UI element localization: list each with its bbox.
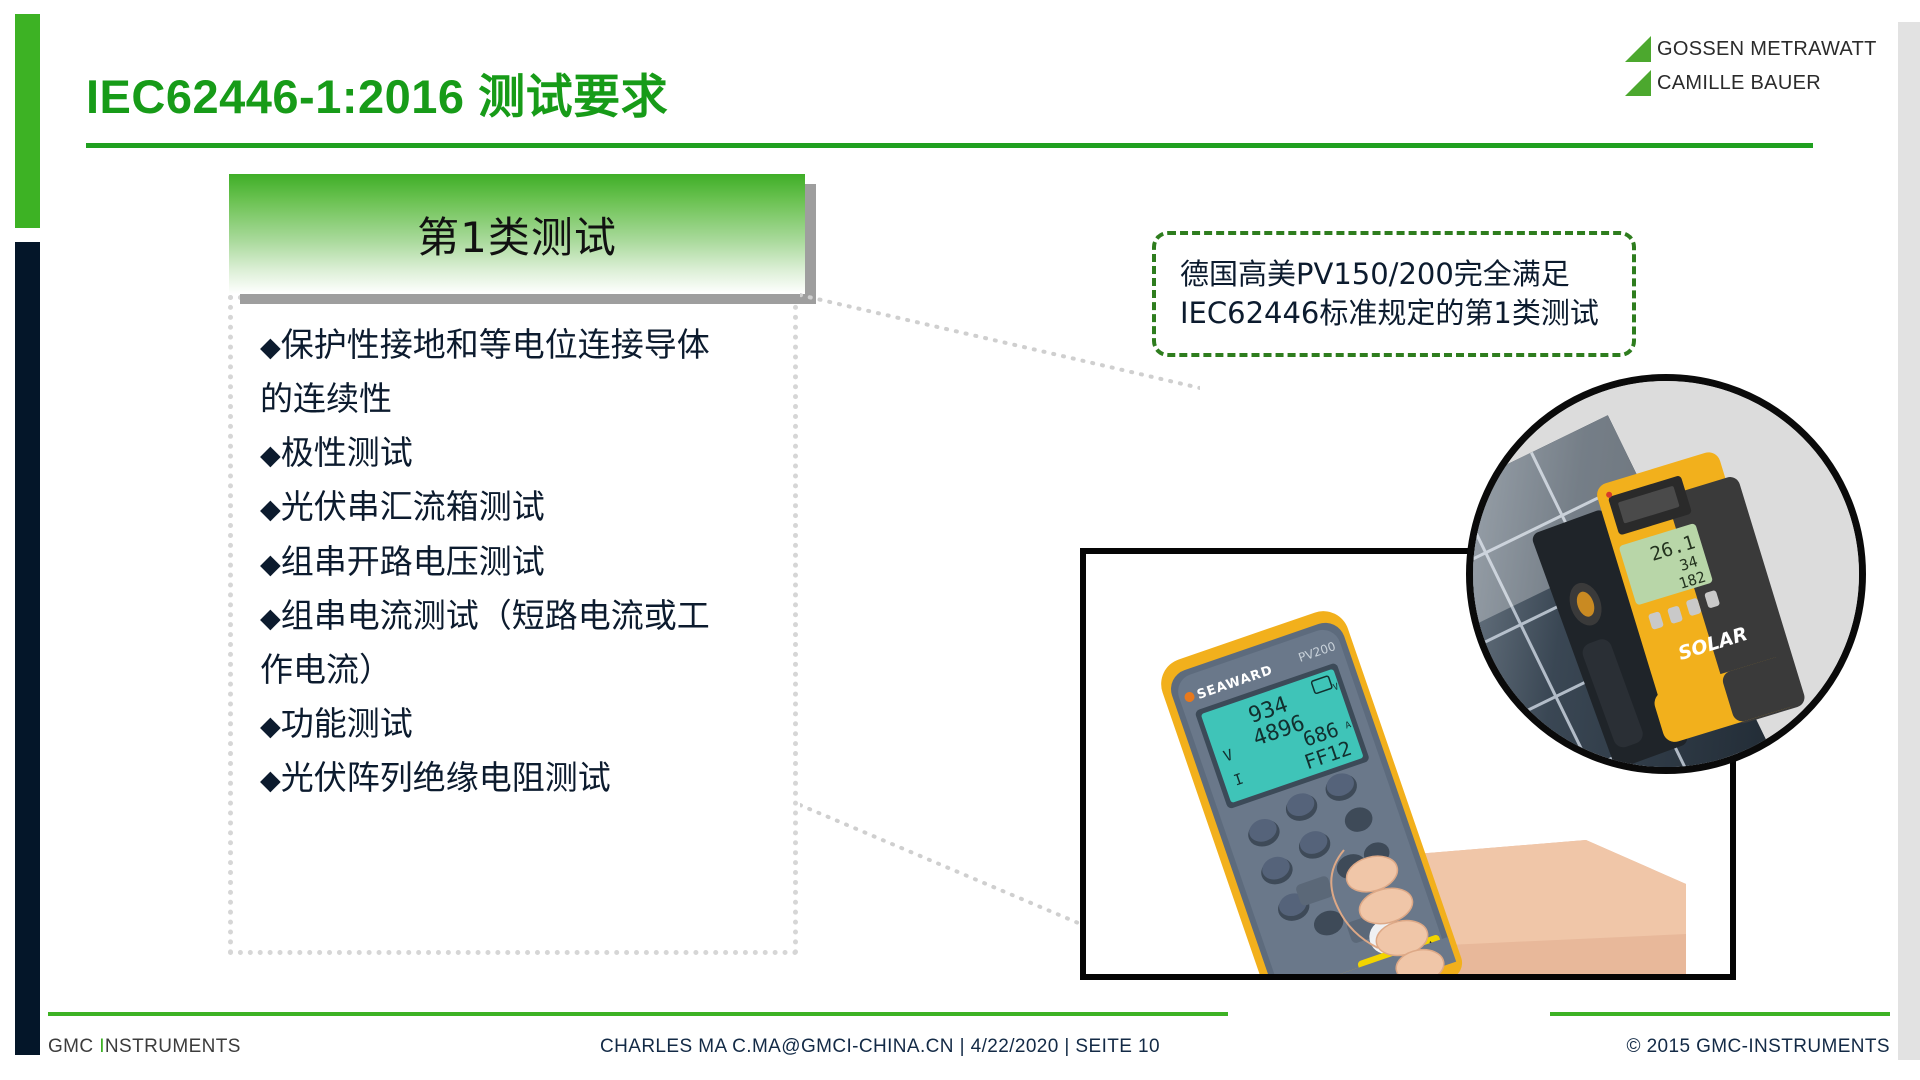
footer-copyright: © 2015 GMC-INSTRUMENTS [1626, 1036, 1890, 1058]
page-title: IEC62446-1:2016 测试要求 [86, 58, 668, 127]
list-item: ◆极性测试 [260, 428, 780, 478]
bullet-marker-icon: ◆ [260, 549, 281, 580]
list-item-label: 的连续性 [260, 379, 392, 418]
footer-divider-left [48, 1012, 1228, 1016]
list-item: 作电流） [260, 645, 780, 695]
bullet-marker-icon: ◆ [260, 440, 281, 471]
list-item-label: 作电流） [260, 650, 392, 689]
list-item: 的连续性 [260, 374, 780, 424]
company-logo: GOSSEN METRAWATT CAMILLE BAUER [1625, 32, 1875, 100]
footer-meta: CHARLES MA C.MA@GMCI-CHINA.CN | 4/22/202… [600, 1036, 1160, 1058]
logo-row-gossen: GOSSEN METRAWATT [1625, 32, 1875, 66]
footer-brand: GMC INSTRUMENTS [48, 1036, 241, 1058]
connector-line-top [800, 290, 1200, 390]
list-item: ◆光伏串汇流箱测试 [260, 482, 780, 532]
callout-box: 德国高美PV150/200完全满足 IEC62446标准规定的第1类测试 [1152, 231, 1636, 357]
footer-brand-suffix: NSTRUMENTS [105, 1036, 241, 1057]
list-item-label: 光伏串汇流箱测试 [281, 487, 545, 526]
list-item-label: 光伏阵列绝缘电阻测试 [281, 758, 611, 797]
logo-text-camille: CAMILLE BAUER [1657, 72, 1821, 95]
bullet-marker-icon: ◆ [260, 603, 281, 634]
list-item-label: 极性测试 [281, 433, 413, 472]
bullet-marker-icon: ◆ [260, 494, 281, 525]
footer-divider-right [1550, 1012, 1890, 1016]
bullet-marker-icon: ◆ [260, 711, 281, 742]
bullet-marker-icon: ◆ [260, 332, 281, 363]
list-item: ◆组串开路电压测试 [260, 537, 780, 587]
list-item-label: 组串电流测试（短路电流或工 [281, 596, 710, 635]
list-item: ◆保护性接地和等电位连接导体 [260, 320, 780, 370]
bullet-list: ◆保护性接地和等电位连接导体 的连续性 ◆极性测试 ◆光伏串汇流箱测试 ◆组串开… [260, 320, 780, 807]
connector-line-bottom [800, 800, 1090, 930]
triangle-mark-icon [1625, 70, 1651, 96]
slide-root: GOSSEN METRAWATT CAMILLE BAUER IEC62446-… [0, 0, 1920, 1080]
bullet-marker-icon: ◆ [260, 765, 281, 796]
solar-meter-illustration: 26.1 34 182 SOLAR [1473, 381, 1866, 774]
product-photo-inset: 26.1 34 182 SOLAR [1466, 374, 1866, 774]
list-item: ◆组串电流测试（短路电流或工 [260, 591, 780, 641]
list-item: ◆功能测试 [260, 699, 780, 749]
callout-line-2: IEC62446标准规定的第1类测试 [1180, 294, 1632, 333]
category-card: 第1类测试 [229, 174, 805, 294]
list-item: ◆光伏阵列绝缘电阻测试 [260, 753, 780, 803]
left-accent-bar-green [15, 14, 40, 228]
callout-line-1: 德国高美PV150/200完全满足 [1180, 255, 1632, 294]
logo-text-gossen: GOSSEN METRAWATT [1657, 38, 1877, 61]
footer-brand-prefix: GMC [48, 1036, 99, 1057]
right-edge-bar [1898, 22, 1920, 1060]
triangle-mark-icon [1625, 36, 1651, 62]
left-accent-bar-dark [15, 242, 40, 1055]
logo-row-camille: CAMILLE BAUER [1625, 66, 1875, 100]
title-underline [86, 143, 1813, 148]
category-card-title: 第1类测试 [417, 204, 617, 265]
list-item-label: 保护性接地和等电位连接导体 [281, 325, 710, 364]
list-item-label: 组串开路电压测试 [281, 542, 545, 581]
list-item-label: 功能测试 [281, 704, 413, 743]
